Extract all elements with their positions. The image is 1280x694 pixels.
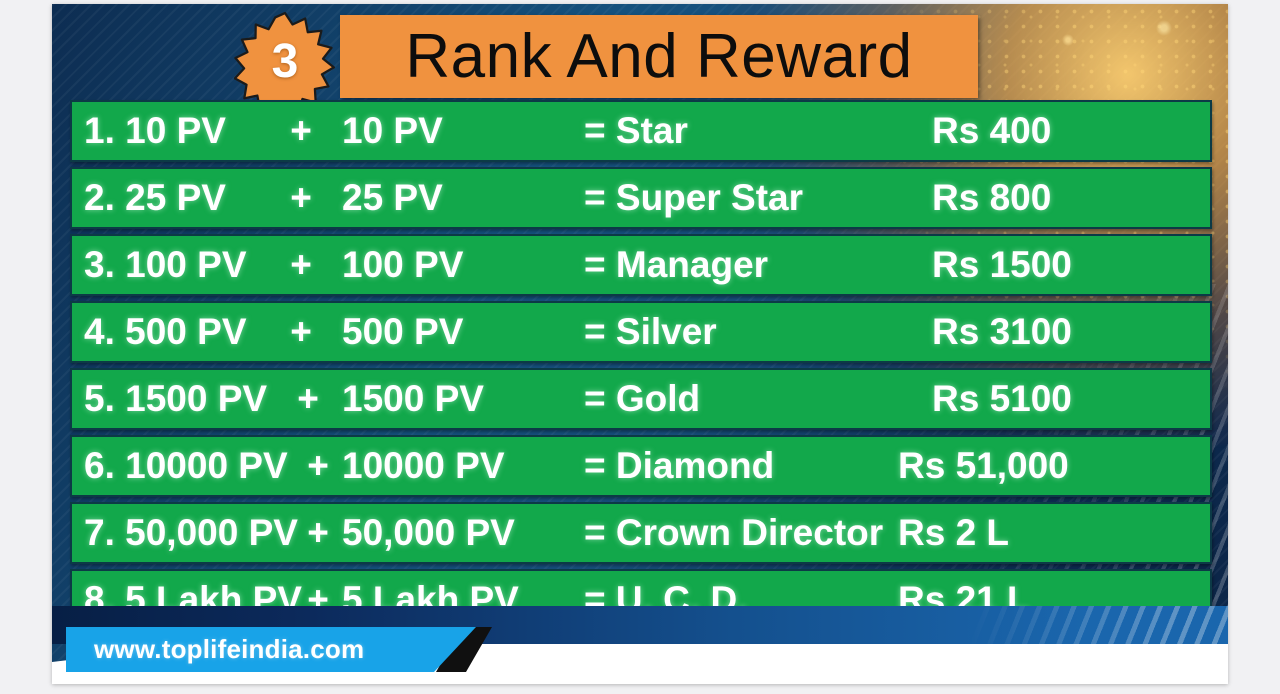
- row-pv-left: 4. 500 PV: [72, 311, 270, 353]
- table-row: 2. 25 PV + 25 PV = Super Star Rs 800: [70, 167, 1212, 229]
- row-rank: = Diamond: [574, 445, 892, 487]
- row-plus-sign: +: [270, 244, 332, 286]
- row-pv-right: 10000 PV: [332, 445, 574, 487]
- row-reward: Rs 51,000: [892, 445, 1210, 487]
- row-pv-right: 25 PV: [332, 177, 574, 219]
- row-plus-sign: +: [270, 110, 332, 152]
- row-reward: Rs 3100: [926, 311, 1210, 353]
- row-pv-right: 1500 PV: [332, 378, 574, 420]
- row-pv-right: 100 PV: [332, 244, 574, 286]
- page-root: 3 Rank And Reward 1. 10 PV + 10 PV = Sta…: [0, 0, 1280, 694]
- footer-url-banner[interactable]: www.toplifeindia.com: [66, 627, 476, 672]
- row-reward: Rs 400: [926, 110, 1210, 152]
- title-banner: Rank And Reward: [340, 15, 978, 98]
- row-rank: = Manager: [574, 244, 926, 286]
- row-rank: = Star: [574, 110, 926, 152]
- row-reward: Rs 5100: [926, 378, 1210, 420]
- page-title: Rank And Reward: [405, 26, 912, 88]
- rank-reward-list: 1. 10 PV + 10 PV = Star Rs 400 2. 25 PV …: [70, 100, 1212, 636]
- row-pv-left: 7. 50,000 PV: [72, 512, 304, 554]
- row-pv-right: 500 PV: [332, 311, 574, 353]
- row-plus-sign: +: [270, 177, 332, 219]
- row-rank: = Gold: [574, 378, 926, 420]
- row-plus-sign: +: [284, 378, 332, 420]
- table-row: 5. 1500 PV + 1500 PV = Gold Rs 5100: [70, 368, 1212, 430]
- row-plus-sign: +: [304, 512, 332, 554]
- row-pv-left: 3. 100 PV: [72, 244, 270, 286]
- table-row: 4. 500 PV + 500 PV = Silver Rs 3100: [70, 301, 1212, 363]
- row-reward: Rs 2 L: [892, 512, 1210, 554]
- row-rank: = Crown Director: [574, 512, 892, 554]
- row-plus-sign: +: [270, 311, 332, 353]
- row-pv-right: 50,000 PV: [332, 512, 574, 554]
- footer-url-text: www.toplifeindia.com: [66, 634, 364, 665]
- table-row: 6. 10000 PV + 10000 PV = Diamond Rs 51,0…: [70, 435, 1212, 497]
- row-plus-sign: +: [304, 445, 332, 487]
- row-reward: Rs 800: [926, 177, 1210, 219]
- table-row: 7. 50,000 PV + 50,000 PV = Crown Directo…: [70, 502, 1212, 564]
- row-pv-left: 1. 10 PV: [72, 110, 270, 152]
- starburst-badge: 3: [234, 11, 336, 113]
- row-rank: = Silver: [574, 311, 926, 353]
- row-pv-left: 5. 1500 PV: [72, 378, 284, 420]
- row-rank: = Super Star: [574, 177, 926, 219]
- row-reward: Rs 1500: [926, 244, 1210, 286]
- table-row: 3. 100 PV + 100 PV = Manager Rs 1500: [70, 234, 1212, 296]
- badge-number: 3: [234, 11, 336, 113]
- slide: 3 Rank And Reward 1. 10 PV + 10 PV = Sta…: [52, 4, 1228, 684]
- table-row: 1. 10 PV + 10 PV = Star Rs 400: [70, 100, 1212, 162]
- footer-hatch-decoration: [968, 606, 1228, 644]
- row-pv-left: 2. 25 PV: [72, 177, 270, 219]
- row-pv-right: 10 PV: [332, 110, 574, 152]
- row-pv-left: 6. 10000 PV: [72, 445, 304, 487]
